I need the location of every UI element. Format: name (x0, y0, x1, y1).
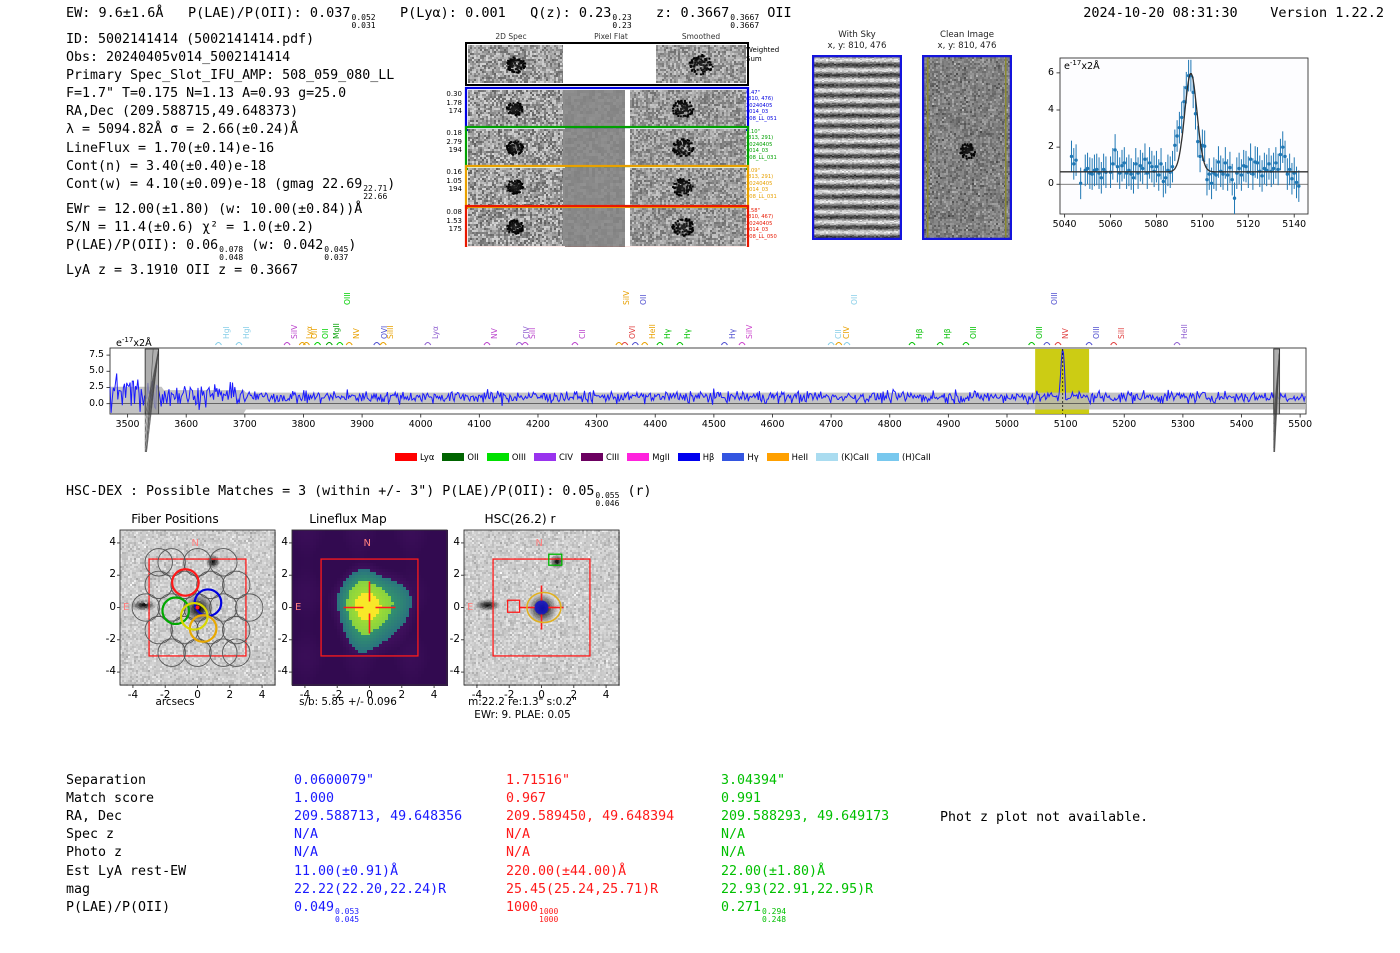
weighted-sum-label: WeightedSum (746, 46, 808, 64)
legend-label: (K)CaII (841, 452, 869, 462)
lineplot-ytick: 2 (1030, 141, 1054, 152)
lineflux-map-title: Lineflux Map (273, 512, 423, 526)
full-spectrum-chart: 3500360037003800390040004100420043004400… (62, 272, 1312, 452)
info-lambda-sigma: λ = 5094.82Å σ = 2.66(±0.24)Å (66, 121, 395, 139)
emission-line-label: NV (490, 328, 499, 339)
emission-line-label: SiIV (290, 325, 299, 339)
lineplot-ytick: 6 (1030, 67, 1054, 78)
info-plae-end: ) (348, 238, 356, 253)
info-plae-lo: 0.048 (219, 254, 243, 262)
spec2d-stat-value: 0.18 (420, 129, 462, 138)
spec2d-stat-value: 174 (420, 107, 462, 116)
table-row-label: P(LAE)/P(OII) (66, 899, 170, 917)
emission-line-label: Lyα (305, 326, 314, 339)
table-cell: 0.0600079" (294, 772, 374, 790)
legend-swatch (722, 453, 744, 461)
z-line-id: OII (767, 5, 791, 21)
legend-item: CIV (534, 452, 573, 462)
table-cell: 209.589450, 49.648394 (506, 808, 674, 826)
spec2d-row-meta: 1.10"(813, 291)20240405v014_03508_LL_031 (746, 129, 808, 161)
plae-value: 0.037 (310, 5, 351, 21)
plae-lo: 0.031 (352, 22, 376, 30)
spectrum-xtick: 4900 (926, 419, 970, 430)
emission-line-label: SiII (528, 328, 537, 339)
table-cell: N/A (721, 844, 745, 862)
spectrum-xtick: 4200 (516, 419, 560, 430)
legend-label: CIV (559, 452, 573, 462)
hsc-r-band-title: HSC(26.2) r (445, 512, 595, 526)
spec2d-row-stats: 0.182.79194 (420, 129, 462, 155)
hsc-dex-summary: HSC-DEX : Possible Matches = 3 (within +… (66, 484, 652, 508)
clean-image-coords: x, y: 810, 476 (922, 41, 1012, 52)
cutout-xtick: 0 (528, 689, 556, 701)
table-cell: 0.0490.0530.045 (294, 899, 359, 924)
emission-line-label: Hβ (943, 328, 952, 339)
emission-line-legend: LyαOIIOIIICIVCIIIMgIIHβHγHeII(K)CaII(H)C… (395, 452, 931, 462)
table-cell: 22.00(±1.80)Å (721, 863, 825, 881)
spec2d-row-stats: 0.161.05194 (420, 168, 462, 194)
info-lineflux: LineFlux = 1.70(±0.14)e-16 (66, 140, 395, 158)
cutout-xtick: 4 (248, 689, 276, 701)
emission-line-label: OIII (969, 326, 978, 339)
hsc-r-band-caption2: EWr: 9. PLAE: 0.05 (435, 709, 610, 722)
spectrum-flux-unit: e-17x2Å (116, 336, 152, 349)
table-cell-lo: 0.248 (762, 916, 786, 924)
emission-line-label: CIV (842, 326, 851, 339)
cutout-xtick: -4 (291, 689, 319, 701)
dex-post: (r) (627, 484, 651, 499)
with-sky-coords: x, y: 810, 476 (812, 41, 902, 52)
cont-w-post: ) (387, 177, 395, 192)
legend-label: (H)CaII (902, 452, 931, 462)
ew-label: EW: (66, 5, 90, 21)
cutout-ytick: -2 (438, 633, 460, 645)
timestamp-version: 2024-10-20 08:31:30 Version 1.22.2 (1083, 5, 1384, 21)
legend-item: MgII (627, 452, 669, 462)
cutout-xtick: 2 (560, 689, 588, 701)
table-cell: 100010001000 (506, 899, 558, 924)
plae-label: P(LAE)/P(OII): (188, 5, 302, 21)
table-cell: N/A (294, 826, 318, 844)
lineplot-ytick: 4 (1030, 104, 1054, 115)
with-sky-title: With Sky (812, 30, 902, 41)
cutout-ytick: 4 (438, 536, 460, 548)
spec2d-stat-value: 175 (420, 225, 462, 234)
table-cell: 1.000 (294, 790, 334, 808)
cutout-ytick: -4 (94, 665, 116, 677)
lineplot-xtick: 5060 (1091, 219, 1131, 230)
legend-item: Hγ (722, 452, 758, 462)
spectrum-xtick: 3600 (164, 419, 208, 430)
info-ewr: EWr = 12.00(±1.80) (w: 10.00(±0.84))Å (66, 201, 395, 219)
emission-line-label: Hβ (915, 328, 924, 339)
legend-swatch (627, 453, 649, 461)
spectrum-ytick: 7.5 (62, 349, 104, 360)
info-primary-spec: Primary Spec_Slot_IFU_AMP: 508_059_080_L… (66, 67, 395, 85)
emission-line-label: OII (850, 295, 859, 305)
emission-line-label: NV (352, 328, 361, 339)
info-cont-w: Cont(w) = 4.10(±0.09)e-18 (gmag 22.6922.… (66, 176, 395, 201)
table-cell: N/A (294, 844, 318, 862)
legend-label: MgII (652, 452, 669, 462)
table-cell-lo: 1000 (539, 916, 558, 924)
table-cell: 220.00(±44.00)Å (506, 863, 626, 881)
emission-line-label: OVI (628, 326, 637, 339)
info-cont-n: Cont(n) = 3.40(±0.40)e-18 (66, 158, 395, 176)
info-plae: P(LAE)/P(OII): 0.060.0780.048 (w: 0.0420… (66, 237, 395, 262)
legend-item: CIII (581, 452, 619, 462)
legend-item: (K)CaII (816, 452, 869, 462)
z-value: 0.3667 (680, 5, 729, 21)
clean-image-panel: Clean Image x, y: 810, 476 (922, 30, 1012, 245)
legend-item: Lyα (395, 452, 434, 462)
legend-item: OIII (487, 452, 526, 462)
legend-swatch (678, 453, 700, 461)
spec2d-meta-line: 508_LL_050 (746, 234, 808, 240)
emission-line-label: Hγ (663, 329, 672, 339)
compass-north: N (364, 538, 371, 549)
legend-swatch (487, 453, 509, 461)
cutout-xtick: -2 (151, 689, 179, 701)
info-plae-pre: P(LAE)/P(OII): 0.06 (66, 238, 218, 253)
emission-line-label: OIII (1035, 326, 1044, 339)
table-cell: 0.2710.2940.248 (721, 899, 786, 924)
legend-swatch (395, 453, 417, 461)
spectrum-xtick: 4600 (750, 419, 794, 430)
cutout-xtick: -2 (495, 689, 523, 701)
spectrum-xtick: 4100 (457, 419, 501, 430)
table-cell-value: 0.049 (294, 900, 334, 915)
cutout-ytick: 2 (266, 568, 288, 580)
cutout-xtick: -2 (323, 689, 351, 701)
emission-line-label: SiII (1117, 328, 1126, 339)
spec2d-row-stats: 0.081.53175 (420, 208, 462, 234)
spectrum-xtick: 5200 (1102, 419, 1146, 430)
qz-value: 0.23 (579, 5, 612, 21)
spectrum-ytick: 0.0 (62, 398, 104, 409)
spec2d-row-stats: 0.301.78174 (420, 90, 462, 116)
emission-line-label: SiIV (622, 291, 631, 305)
legend-item: Hβ (678, 452, 715, 462)
cutout-xtick: 0 (184, 689, 212, 701)
z-label: z: (656, 5, 672, 21)
legend-label: HeII (792, 452, 808, 462)
table-cell: 209.588293, 49.649173 (721, 808, 889, 826)
cutout-ytick: 0 (438, 601, 460, 613)
legend-swatch (767, 453, 789, 461)
spectrum-xtick: 5300 (1161, 419, 1205, 430)
spectrum-xtick: 5500 (1278, 419, 1322, 430)
table-row-label: Separation (66, 772, 146, 790)
cutout-ytick: -2 (94, 633, 116, 645)
table-cell-value: 0.271 (721, 900, 761, 915)
object-info-block: ID: 5002141414 (5002141414.pdf) Obs: 202… (66, 31, 395, 280)
cutout-ytick: 4 (266, 536, 288, 548)
legend-label: Hγ (747, 452, 758, 462)
legend-swatch (534, 453, 556, 461)
cutout-xtick: -4 (463, 689, 491, 701)
spectrum-xtick: 3900 (340, 419, 384, 430)
spectrum-xtick: 4800 (868, 419, 912, 430)
spec2d-meta-line: 508_LL_031 (746, 155, 808, 161)
legend-label: OIII (512, 452, 526, 462)
compass-north: N (192, 538, 199, 549)
spectrum-xtick: 4400 (633, 419, 677, 430)
info-sn-chi2: S/N = 11.4(±0.6) χ² = 1.0(±0.2) (66, 219, 395, 237)
table-cell-value: 1000 (506, 900, 538, 915)
match-table: SeparationMatch scoreRA, DecSpec zPhoto … (66, 772, 966, 922)
plya-value: 0.001 (465, 5, 506, 21)
summary-header: EW: 9.6±1.6Å P(LAE)/P(OII): 0.0370.0520.… (66, 5, 792, 30)
emission-line-label: Lyα (431, 326, 440, 339)
emission-line-label: OII (639, 295, 648, 305)
spec2d-meta-line: 508_LL_031 (746, 194, 808, 200)
legend-item: HeII (767, 452, 808, 462)
lineplot-xtick: 5120 (1228, 219, 1268, 230)
spec2d-stat-value: 194 (420, 146, 462, 155)
cutout-ytick: -2 (266, 633, 288, 645)
info-plae-w: (w: 0.042 (251, 238, 323, 253)
cutout-ytick: 0 (266, 601, 288, 613)
table-cell: 1.71516" (506, 772, 570, 790)
spectrum-xtick: 5100 (1044, 419, 1088, 430)
cutout-xtick: 2 (388, 689, 416, 701)
clean-image-title: Clean Image (922, 30, 1012, 41)
spectrum-xtick: 4700 (809, 419, 853, 430)
legend-swatch (442, 453, 464, 461)
lineplot-xtick: 5100 (1182, 219, 1222, 230)
compass-east: E (295, 602, 301, 613)
emission-line-label: Hγ (728, 329, 737, 339)
cutout-ytick: -4 (438, 665, 460, 677)
lineplot-xtick: 5140 (1274, 219, 1314, 230)
table-row-label: mag (66, 881, 90, 899)
emission-line-label: OII (321, 329, 330, 339)
photz-note: Phot z plot not available. (940, 810, 1148, 825)
spectrum-xtick: 4000 (399, 419, 443, 430)
table-row-label: Match score (66, 790, 154, 808)
info-id: ID: 5002141414 (5002141414.pdf) (66, 31, 395, 49)
emission-line-label: CII (578, 329, 587, 339)
table-cell: N/A (721, 826, 745, 844)
lineplot-xtick: 5080 (1136, 219, 1176, 230)
plya-label: P(Lyα): (400, 5, 457, 21)
qz-lo: 0.23 (612, 22, 631, 30)
spec2d-stat-value: 2.79 (420, 138, 462, 147)
table-cell: 0.991 (721, 790, 761, 808)
spec2d-row-meta: 1.09"(813, 291)20240405v014_03508_LL_031 (746, 168, 808, 200)
emission-line-label: HeII (648, 324, 657, 339)
spectrum-xtick: 5400 (1220, 419, 1264, 430)
cont-w-lo: 22.66 (363, 193, 387, 201)
table-cell: N/A (506, 826, 530, 844)
qz-label: Q(z): (530, 5, 571, 21)
spectrum-xtick: 3500 (106, 419, 150, 430)
cutout-ytick: 2 (438, 568, 460, 580)
table-row-label: Spec z (66, 826, 114, 844)
table-cell: 3.04394" (721, 772, 785, 790)
compass-north: N (536, 538, 543, 549)
emission-line-label: OIII (1092, 326, 1101, 339)
legend-swatch (877, 453, 899, 461)
spec2d-row-meta: 0.47"(810, 476)20240405v014_03508_LL_051 (746, 90, 808, 122)
emission-line-label: NV (1061, 328, 1070, 339)
spectrum-xtick: 4300 (575, 419, 619, 430)
cutout-ytick: -4 (266, 665, 288, 677)
info-obs: Obs: 20240405v014_5002141414 (66, 49, 395, 67)
spec2d-stat-value: 1.78 (420, 99, 462, 108)
table-row-label: Photo z (66, 844, 122, 862)
emission-line-label: OIII (343, 292, 352, 305)
spectrum-ytick: 5.0 (62, 365, 104, 376)
emission-line-label: Hγ (683, 329, 692, 339)
table-cell: 11.00(±0.91)Å (294, 863, 398, 881)
legend-label: Lyα (420, 452, 434, 462)
line-profile-chart: 5040506050805100512051400246e-17x2Å (1030, 38, 1320, 253)
spec2d-stat-value: 0.30 (420, 90, 462, 99)
spectrum-xtick: 5000 (985, 419, 1029, 430)
dex-pre: HSC-DEX : Possible Matches = 3 (within +… (66, 484, 594, 499)
legend-label: CIII (606, 452, 619, 462)
table-row-label: RA, Dec (66, 808, 122, 826)
lineplot-flux-unit: e-17x2Å (1064, 59, 1100, 72)
table-cell: 0.967 (506, 790, 546, 808)
dex-lo: 0.046 (595, 500, 619, 508)
spec2d-panel-group: 2D Spec Pixel Flat Smoothed WeightedSum … (420, 32, 810, 247)
info-radec: RA,Dec (209.588715,49.648373) (66, 103, 395, 121)
legend-item: OII (442, 452, 479, 462)
spectrum-xtick: 3800 (281, 419, 325, 430)
legend-swatch (581, 453, 603, 461)
z-lo: 0.3667 (730, 22, 759, 30)
version-label: Version 1.22.2 (1270, 5, 1384, 21)
table-cell: 22.93(22.91,22.95)R (721, 881, 873, 899)
emission-line-label: OIII (1050, 292, 1059, 305)
cutout-ytick: 2 (94, 568, 116, 580)
table-cell: 25.45(25.24,25.71)R (506, 881, 658, 899)
fiber-positions-title: Fiber Positions (100, 512, 250, 526)
cutout-xtick: 0 (356, 689, 384, 701)
cutout-xtick: -4 (119, 689, 147, 701)
table-cell: N/A (506, 844, 530, 862)
cutout-xtick: 4 (420, 689, 448, 701)
cutout-ytick: 0 (94, 601, 116, 613)
spectrum-ytick: 2.5 (62, 381, 104, 392)
lineplot-ytick: 0 (1030, 178, 1054, 189)
cutout-xtick: 2 (216, 689, 244, 701)
cont-w-text: Cont(w) = 4.10(±0.09)e-18 (gmag 22.69 (66, 177, 362, 192)
info-plae-w-lo: 0.037 (324, 254, 348, 262)
spec2d-stat-value: 1.53 (420, 217, 462, 226)
with-sky-panel: With Sky x, y: 810, 476 (812, 30, 902, 245)
spec2d-stat-value: 1.05 (420, 177, 462, 186)
compass-east: E (123, 602, 129, 613)
timestamp: 2024-10-20 08:31:30 (1083, 5, 1237, 21)
legend-swatch (816, 453, 838, 461)
legend-label: Hβ (703, 452, 715, 462)
spec2d-row-meta: 1.58"(810, 467)20240405v014_03508_LL_050 (746, 208, 808, 240)
emission-line-label: MgII (332, 323, 341, 339)
emission-line-label: HeII (1180, 324, 1189, 339)
emission-line-label: SiIV (745, 325, 754, 339)
table-row-label: Est LyA rest-EW (66, 863, 186, 881)
compass-east: E (467, 602, 473, 613)
legend-label: OII (467, 452, 479, 462)
spectrum-xtick: 3700 (223, 419, 267, 430)
table-cell-lo: 0.045 (335, 916, 359, 924)
cutout-ytick: 4 (94, 536, 116, 548)
cutout-panel-row: Fiber Positions Lineflux Map HSC(26.2) r… (55, 508, 625, 723)
cutout-xtick: 4 (592, 689, 620, 701)
emission-line-label: HgI (242, 326, 251, 339)
table-cell: 209.588713, 49.648356 (294, 808, 462, 826)
spectrum-xtick: 4500 (692, 419, 736, 430)
legend-item: (H)CaII (877, 452, 931, 462)
emission-line-label: SiIII (386, 325, 395, 339)
spec2d-meta-line: 508_LL_051 (746, 116, 808, 122)
table-cell: 22.22(22.20,22.24)R (294, 881, 446, 899)
emission-line-label: HgI (222, 326, 231, 339)
ew-value: 9.6±1.6Å (99, 5, 164, 21)
spec2d-stat-value: 194 (420, 185, 462, 194)
spec2d-stat-value: 0.08 (420, 208, 462, 217)
spec2d-stat-value: 0.16 (420, 168, 462, 177)
lineplot-xtick: 5040 (1045, 219, 1085, 230)
info-seeing: F=1.7" T=0.175 N=1.13 A=0.93 g=25.0 (66, 85, 395, 103)
